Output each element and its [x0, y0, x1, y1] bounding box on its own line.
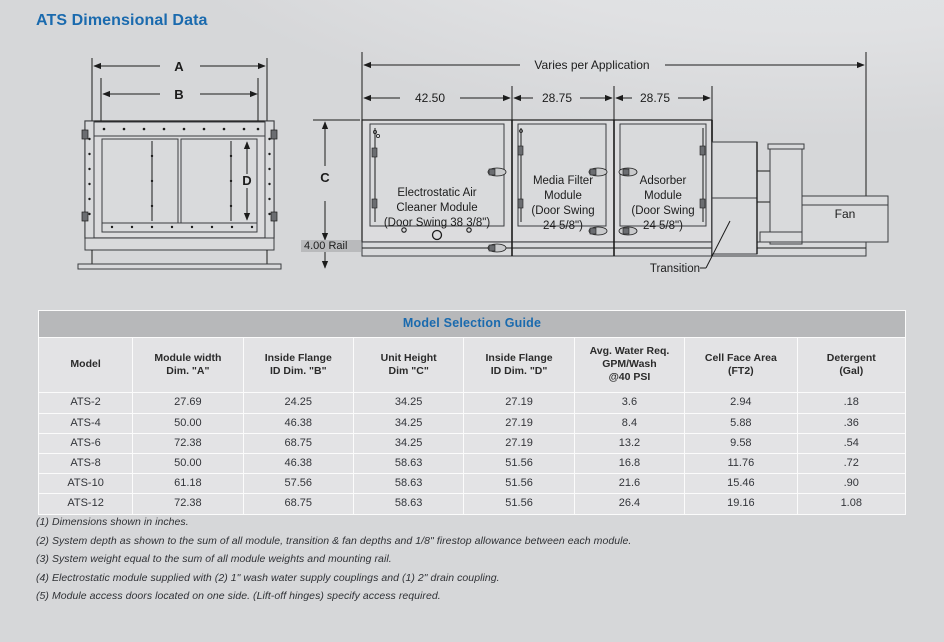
svg-text:Media Filter: Media Filter [533, 175, 593, 187]
column-header-module-width-a: Module widthDim. "A" [133, 338, 242, 392]
cell-model: ATS-10 [39, 474, 132, 493]
cell-module-width: 72.38 [133, 434, 242, 453]
cell-flange-d: 27.19 [464, 414, 573, 433]
svg-text:Module: Module [644, 190, 682, 202]
fan-assembly: Fan [760, 144, 888, 244]
footnote-item: (1) Dimensions shown in inches. [36, 516, 916, 528]
page-title: ATS Dimensional Data [36, 12, 208, 30]
cell-model: ATS-6 [39, 434, 132, 453]
dimension-label-b: B [174, 87, 183, 102]
technical-drawing: A B [0, 36, 944, 298]
module-label-electrostatic-air-cleaner: Electrostatic Air Cleaner Module (Door S… [384, 187, 491, 229]
svg-text:24 5/8"): 24 5/8") [643, 220, 683, 232]
cell-detergent: .18 [798, 393, 905, 412]
cell-detergent: 1.08 [798, 494, 905, 513]
footnote-item: (3) System weight equal to the sum of al… [36, 553, 916, 565]
footnote-item: (4) Electrostatic module supplied with (… [36, 572, 916, 584]
cell-water-req: 3.6 [575, 393, 684, 412]
column-header-model: Model [39, 338, 132, 392]
cell-cell-face-area: 19.16 [685, 494, 796, 513]
dimension-label-d: D [242, 173, 251, 188]
cell-cell-face-area: 11.76 [685, 454, 796, 473]
cell-water-req: 8.4 [575, 414, 684, 433]
svg-text:Adsorber: Adsorber [640, 175, 687, 187]
table-row: ATS-12 72.38 68.75 58.63 51.56 26.4 19.1… [39, 494, 905, 513]
cell-unit-height: 58.63 [354, 494, 463, 513]
column-header-unit-height-c: Unit HeightDim "C" [354, 338, 463, 392]
column-header-detergent: Detergent(Gal) [798, 338, 905, 392]
model-selection-table: Model Selection Guide Model Module width… [38, 310, 906, 515]
cell-detergent: .72 [798, 454, 905, 473]
cell-flange-b: 68.75 [244, 494, 353, 513]
cell-detergent: .90 [798, 474, 905, 493]
table-row: ATS-2 27.69 24.25 34.25 27.19 3.6 2.94 .… [39, 393, 905, 412]
cell-flange-d: 51.56 [464, 474, 573, 493]
cell-flange-d: 27.19 [464, 393, 573, 412]
cell-cell-face-area: 5.88 [685, 414, 796, 433]
side-elevation-view: Varies per Application 42.50 28.75 28.75… [301, 52, 888, 275]
cell-cell-face-area: 15.46 [685, 474, 796, 493]
svg-text:Cleaner Module: Cleaner Module [396, 202, 477, 214]
rail-dimension-label: 4.00 Rail [304, 240, 347, 252]
cell-module-width: 61.18 [133, 474, 242, 493]
cell-flange-b: 46.38 [244, 414, 353, 433]
cell-cell-face-area: 2.94 [685, 393, 796, 412]
cell-model: ATS-4 [39, 414, 132, 433]
fan-label: Fan [835, 207, 856, 221]
cell-unit-height: 34.25 [354, 414, 463, 433]
cell-module-width: 50.00 [133, 414, 242, 433]
column-header-inside-flange-d: Inside FlangeID Dim. "D" [464, 338, 573, 392]
dimension-label-a: A [174, 59, 184, 74]
footnote-item: (5) Module access doors located on one s… [36, 590, 916, 602]
cell-flange-d: 27.19 [464, 434, 573, 453]
table-header-row: Model Module widthDim. "A" Inside Flange… [39, 338, 905, 392]
footnote-item: (2) System depth as shown to the sum of … [36, 535, 916, 547]
cell-model: ATS-12 [39, 494, 132, 513]
cell-water-req: 16.8 [575, 454, 684, 473]
cell-unit-height: 34.25 [354, 393, 463, 412]
column-header-cell-face-area: Cell Face Area(FT2) [685, 338, 796, 392]
table-row: ATS-8 50.00 46.38 58.63 51.56 16.8 11.76… [39, 454, 905, 473]
svg-text:Electrostatic Air: Electrostatic Air [397, 187, 476, 199]
cell-model: ATS-8 [39, 454, 132, 473]
cell-detergent: .54 [798, 434, 905, 453]
cell-module-width: 50.00 [133, 454, 242, 473]
cell-flange-b: 24.25 [244, 393, 353, 412]
column-header-avg-water-req: Avg. Water Req.GPM/Wash@40 PSI [575, 338, 684, 392]
front-elevation-view: A B [78, 58, 281, 269]
cell-flange-b: 46.38 [244, 454, 353, 473]
cell-water-req: 13.2 [575, 434, 684, 453]
transition-label: Transition [650, 263, 700, 275]
cell-unit-height: 34.25 [354, 434, 463, 453]
table-row: ATS-4 50.00 46.38 34.25 27.19 8.4 5.88 .… [39, 414, 905, 433]
cell-unit-height: 58.63 [354, 474, 463, 493]
cell-cell-face-area: 9.58 [685, 434, 796, 453]
cell-module-width: 27.69 [133, 393, 242, 412]
segment-dimension-2: 28.75 [542, 91, 572, 105]
cell-flange-d: 51.56 [464, 494, 573, 513]
svg-text:Module: Module [544, 190, 582, 202]
cell-water-req: 26.4 [575, 494, 684, 513]
footnotes-list: (1) Dimensions shown in inches. (2) Syst… [36, 516, 916, 609]
table-banner: Model Selection Guide [39, 311, 905, 337]
svg-text:(Door Swing 38 3/8"): (Door Swing 38 3/8") [384, 217, 491, 229]
cell-flange-b: 57.56 [244, 474, 353, 493]
svg-text:(Door Swing: (Door Swing [531, 205, 594, 217]
overall-dimension-label: Varies per Application [534, 58, 649, 72]
cell-model: ATS-2 [39, 393, 132, 412]
cell-flange-d: 51.56 [464, 454, 573, 473]
table-row: ATS-6 72.38 68.75 34.25 27.19 13.2 9.58 … [39, 434, 905, 453]
cell-detergent: .36 [798, 414, 905, 433]
cell-water-req: 21.6 [575, 474, 684, 493]
svg-text:24 5/8"): 24 5/8") [543, 220, 583, 232]
cell-unit-height: 58.63 [354, 454, 463, 473]
column-header-inside-flange-b: Inside FlangeID Dim. "B" [244, 338, 353, 392]
table-row: ATS-10 61.18 57.56 58.63 51.56 21.6 15.4… [39, 474, 905, 493]
height-dimension-label: C [320, 170, 330, 185]
segment-dimension-3: 28.75 [640, 91, 670, 105]
cell-flange-b: 68.75 [244, 434, 353, 453]
svg-text:(Door Swing: (Door Swing [631, 205, 694, 217]
cell-module-width: 72.38 [133, 494, 242, 513]
segment-dimension-1: 42.50 [415, 91, 445, 105]
